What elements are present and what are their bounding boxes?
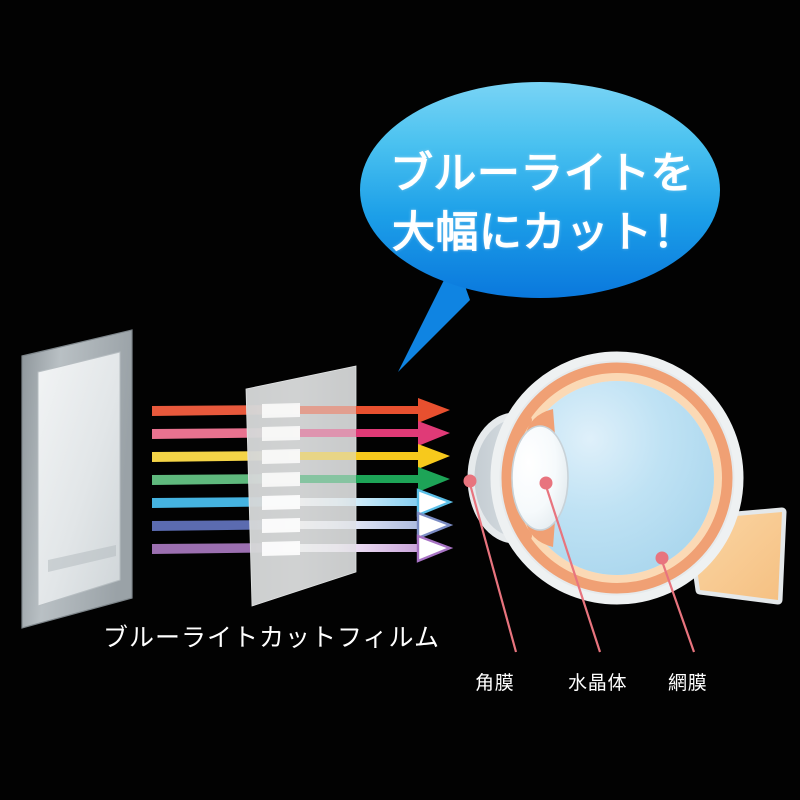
lens — [512, 426, 568, 530]
eye-cross-section — [464, 356, 783, 652]
diagram-canvas: ブルーライトを 大幅にカット！ ブルーライトカットフィルム 角膜 水晶体 網膜 — [0, 0, 800, 800]
band-green — [262, 472, 300, 487]
display-panel — [22, 330, 132, 628]
ray-violet-head — [418, 536, 450, 561]
label-lens: 水晶体 — [568, 668, 627, 695]
speech-bubble-line-1: ブルーライトを — [390, 139, 694, 201]
speech-bubble-line-2: 大幅にカット！ — [392, 198, 696, 260]
band-pink — [262, 426, 300, 441]
band-violet — [262, 541, 300, 556]
band-cyan — [262, 495, 300, 510]
ray-yellow-head — [418, 444, 450, 469]
band-yellow — [262, 449, 300, 464]
ray-indigo-head — [418, 513, 450, 538]
film-caption: ブルーライトカットフィルム — [103, 618, 440, 654]
label-retina: 網膜 — [668, 668, 708, 695]
ray-red-head — [418, 398, 450, 423]
leader-cornea-dot — [464, 475, 477, 488]
ray-green-head — [418, 467, 450, 492]
leader-lens-dot — [540, 477, 553, 490]
leader-retina-dot — [656, 552, 669, 565]
ray-cyan-head — [418, 490, 450, 515]
band-indigo — [262, 518, 300, 533]
ray-pink-head — [418, 421, 450, 446]
band-red — [262, 403, 300, 418]
label-cornea: 角膜 — [475, 668, 515, 695]
